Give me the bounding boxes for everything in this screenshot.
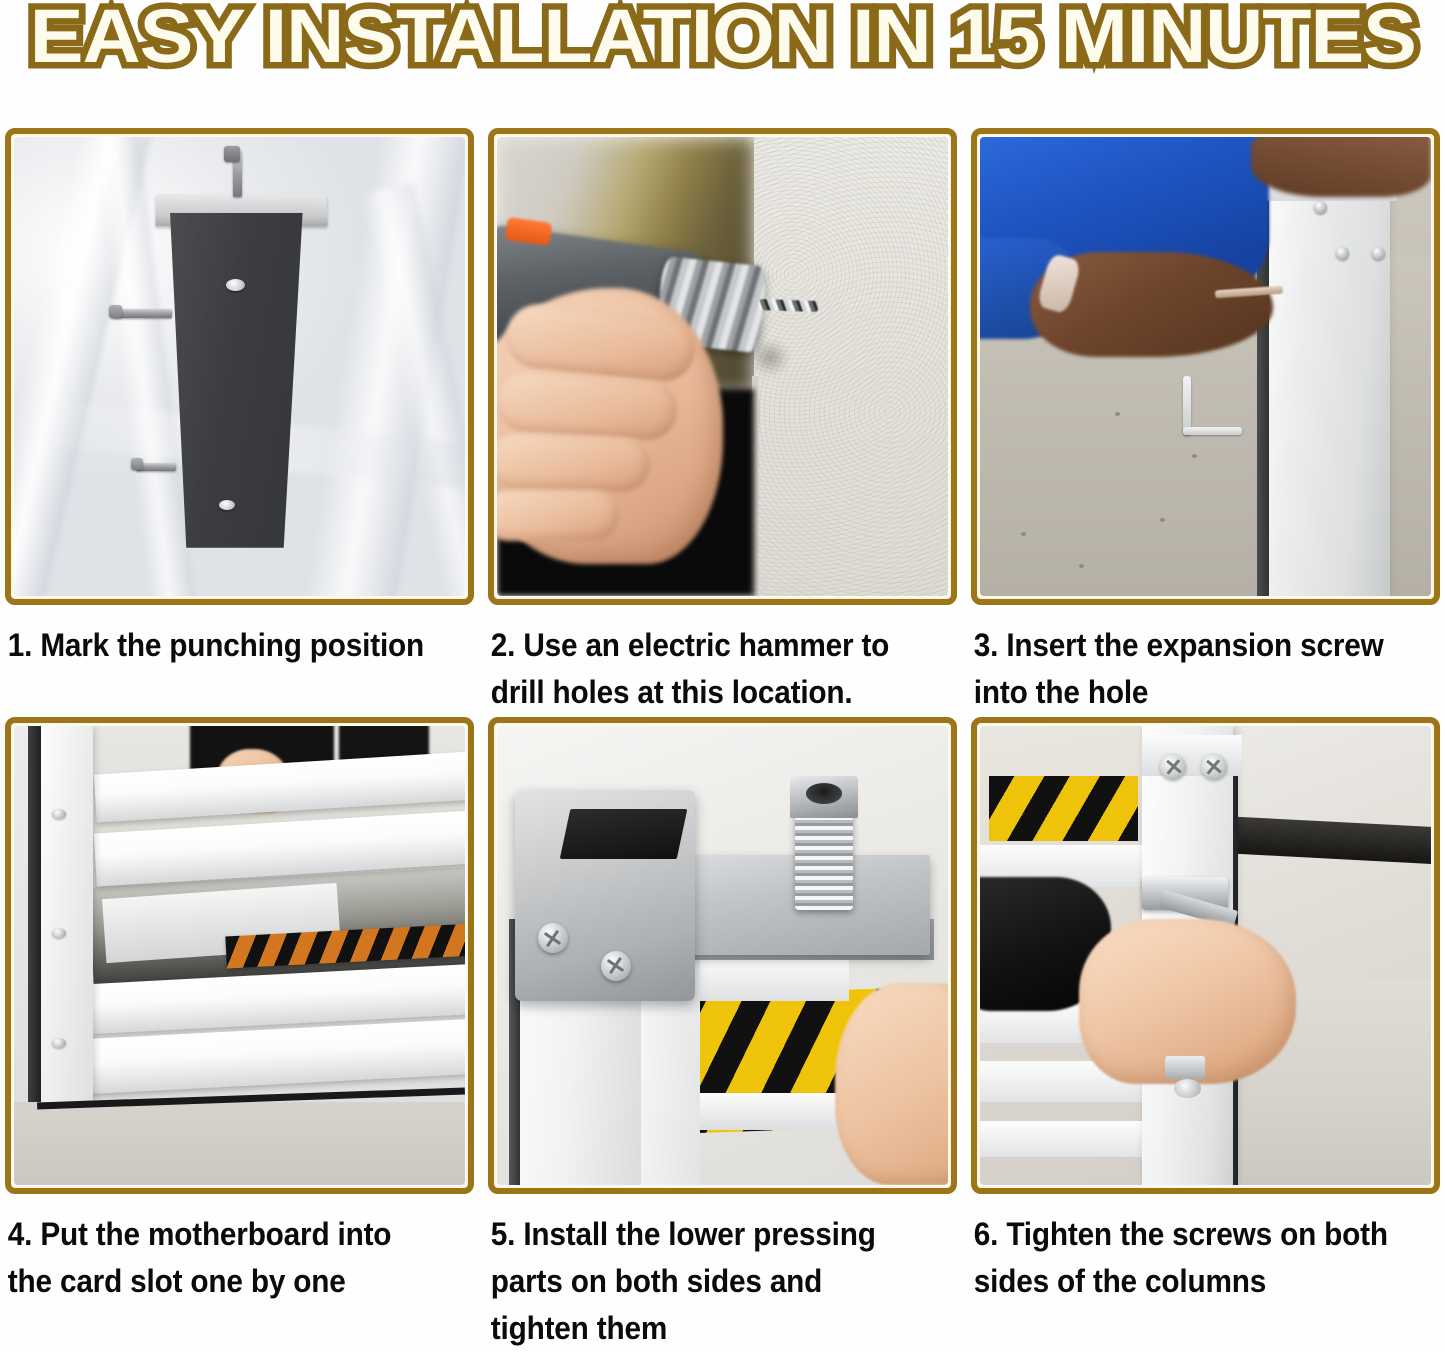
white-column xyxy=(1269,160,1391,596)
step-3-caption: 3. Insert the expansion screw into the h… xyxy=(971,622,1407,716)
bracket-body xyxy=(167,213,302,548)
step-6-image-frame xyxy=(971,717,1440,1194)
hex-socket-bolt-hole xyxy=(806,783,842,804)
lower-bolt xyxy=(1165,1056,1206,1079)
step-card-5: 5. Install the lower pressing parts on b… xyxy=(488,717,957,1352)
barrier-board-4 xyxy=(980,1121,1147,1158)
white-column xyxy=(41,726,93,1102)
step-1-photo xyxy=(14,137,465,596)
bracket-top-nut xyxy=(224,146,240,162)
drill-bit xyxy=(758,299,817,312)
step-1-image-frame xyxy=(5,128,474,605)
step-5-image-frame xyxy=(488,717,957,1194)
allen-key-icon xyxy=(1183,376,1242,436)
step-card-1: 1. Mark the punching position xyxy=(5,128,474,716)
column-bolt-1 xyxy=(1314,201,1327,214)
bracket-side-bolt-1 xyxy=(113,309,172,318)
step-4-photo xyxy=(14,726,465,1185)
phillips-screw-2 xyxy=(1201,754,1227,780)
step-card-6: 6. Tighten the screws on both sides of t… xyxy=(971,717,1440,1352)
step-2-photo xyxy=(497,137,948,596)
step-2-image-frame xyxy=(488,128,957,605)
bracket-side-bolt-1-head xyxy=(109,305,122,318)
step-5-caption: 5. Install the lower pressing parts on b… xyxy=(488,1211,924,1352)
steps-row-bottom: 4. Put the motherboard into the card slo… xyxy=(5,717,1440,1352)
step-4-image-frame xyxy=(5,717,474,1194)
step-card-2: 2. Use an electric hammer to drill holes… xyxy=(488,128,957,716)
phillips-screw-2 xyxy=(601,951,631,981)
bracket-hole-lower xyxy=(219,500,235,510)
hazard-stripe xyxy=(989,776,1138,840)
step-3-photo xyxy=(980,137,1431,596)
phillips-screw-1 xyxy=(1160,754,1186,780)
phillips-screw-1 xyxy=(538,923,568,953)
bracket-side-bolt-2-head xyxy=(131,458,143,470)
page-title: EASY INSTALLATION IN 15 MINUTES xyxy=(29,1,1415,73)
step-3-image-frame xyxy=(971,128,1440,605)
step-6-photo xyxy=(980,726,1431,1185)
lower-screw-head xyxy=(1174,1079,1201,1097)
step-2-caption: 2. Use an electric hammer to drill holes… xyxy=(488,622,924,716)
hand xyxy=(835,983,948,1185)
column-bolt-1 xyxy=(52,809,66,819)
header-banner: EASY INSTALLATION IN 15 MINUTES xyxy=(0,0,1445,112)
step-card-4: 4. Put the motherboard into the card slo… xyxy=(5,717,474,1352)
barrier-board-bottom xyxy=(677,1093,857,1130)
step-1-caption: 1. Mark the punching position xyxy=(5,622,441,669)
step-6-caption: 6. Tighten the screws on both sides of t… xyxy=(971,1211,1407,1305)
step-4-caption: 4. Put the motherboard into the card slo… xyxy=(5,1211,441,1305)
step-5-photo xyxy=(497,726,948,1185)
steps-row-top: 1. Mark the punching position xyxy=(5,128,1440,716)
step-card-3: 3. Insert the expansion screw into the h… xyxy=(971,128,1440,716)
steps-grid: 1. Mark the punching position xyxy=(5,128,1440,1352)
